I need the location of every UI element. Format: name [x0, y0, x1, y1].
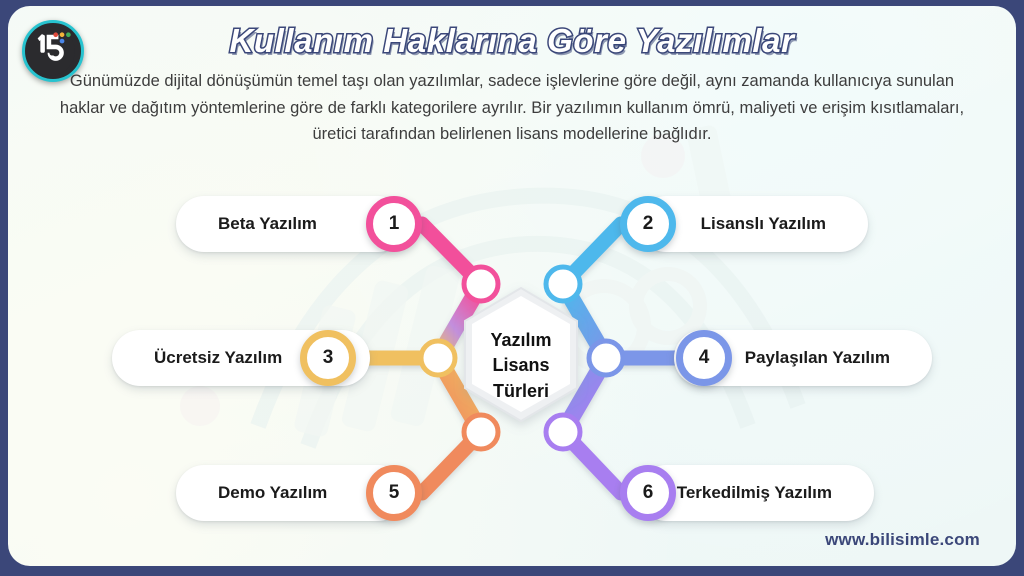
footer-website-url[interactable]: www.bilisimle.com	[825, 530, 980, 550]
center-label-line1: Yazılım	[490, 329, 551, 352]
node-badge-3[interactable]: 3	[300, 330, 356, 386]
intro-paragraph: Günümüzde dijital dönüşümün temel taşı o…	[58, 68, 966, 148]
node-number-2: 2	[643, 213, 654, 235]
node-number-4: 4	[699, 347, 710, 369]
node-badge-6[interactable]: 6	[620, 465, 676, 521]
node-number-5: 5	[389, 482, 400, 504]
node-badge-5[interactable]: 5	[366, 465, 422, 521]
node-number-1: 1	[389, 213, 400, 235]
node-number-3: 3	[323, 347, 334, 369]
infographic-root: Kullanım Haklarına Göre Yazılımlar Günüm…	[0, 0, 1024, 576]
infographic-card: Kullanım Haklarına Göre Yazılımlar Günüm…	[8, 6, 1016, 566]
node-number-6: 6	[643, 482, 654, 504]
hexagon-diagram: Yazılım Lisans Türleri Beta Yazılım 1 Li…	[8, 166, 1016, 546]
page-title: Kullanım Haklarına Göre Yazılımlar	[8, 22, 1016, 60]
center-label-line3: Türleri	[493, 380, 549, 403]
node-badge-2[interactable]: 2	[620, 196, 676, 252]
node-badge-4[interactable]: 4	[676, 330, 732, 386]
center-label-line2: Lisans	[492, 354, 549, 377]
node-badge-1[interactable]: 1	[366, 196, 422, 252]
diagram-center-label: Yazılım Lisans Türleri	[463, 301, 579, 431]
